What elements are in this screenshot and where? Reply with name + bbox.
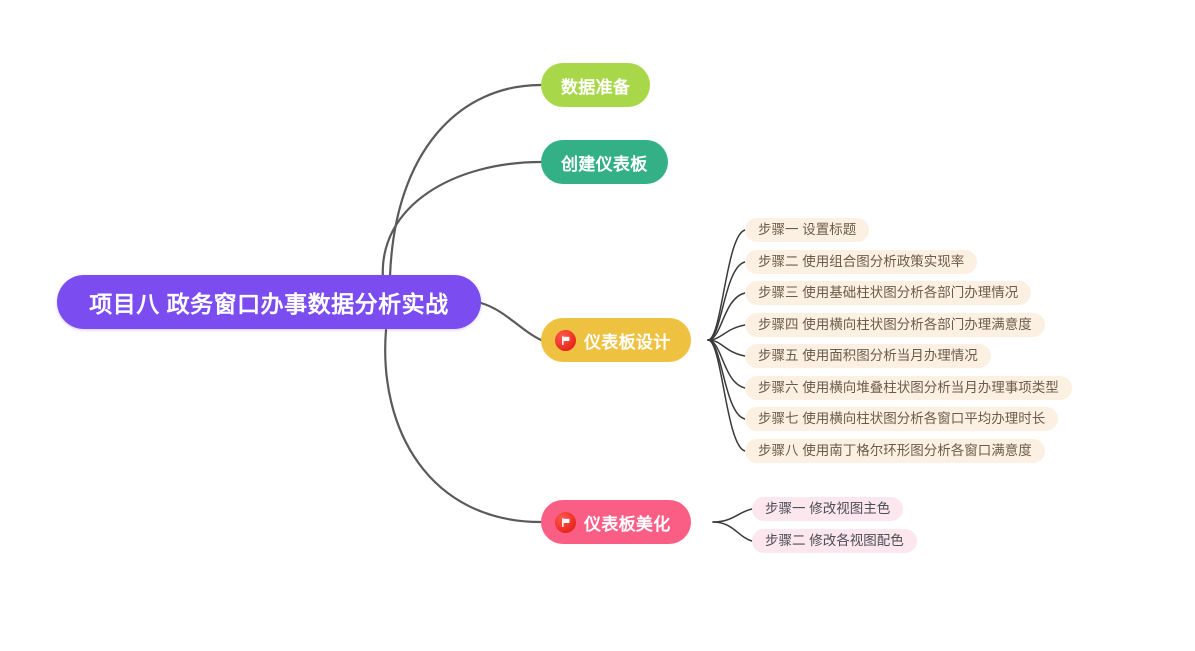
edge-root-to-create-dashboard bbox=[383, 162, 541, 279]
leaf-node-design-step-4[interactable]: 步骤四 使用横向柱状图分析各部门办理满意度 bbox=[745, 313, 1045, 337]
leaf-node-design-step-8-label: 步骤八 使用南丁格尔环形图分析各窗口满意度 bbox=[758, 444, 1032, 458]
branch-node-data-prep[interactable]: 数据准备 bbox=[541, 63, 650, 107]
leaf-node-design-step-2-label: 步骤二 使用组合图分析政策实现率 bbox=[758, 255, 964, 269]
edge-design-step-7 bbox=[708, 340, 745, 419]
branch-node-dashboard-beautify-label: 仪表板美化 bbox=[584, 510, 671, 535]
branch-node-create-dashboard-label: 创建仪表板 bbox=[561, 150, 648, 175]
edge-beautify-step-2 bbox=[713, 522, 752, 541]
edge-root-to-data-prep bbox=[390, 85, 541, 276]
leaf-node-design-step-1[interactable]: 步骤一 设置标题 bbox=[745, 218, 869, 242]
edge-design-step-6 bbox=[708, 340, 745, 388]
root-node-label: 项目八 政务窗口办事数据分析实战 bbox=[89, 285, 448, 319]
branch-node-dashboard-design-label: 仪表板设计 bbox=[584, 328, 671, 353]
mindmap-canvas: 项目八 政务窗口办事数据分析实战 数据准备 创建仪表板 仪表板设计 仪表板美化 … bbox=[0, 0, 1195, 651]
red-flag-icon bbox=[555, 330, 576, 351]
leaf-node-design-step-5-label: 步骤五 使用面积图分析当月办理情况 bbox=[758, 349, 978, 363]
leaf-node-design-step-3-label: 步骤三 使用基础柱状图分析各部门办理情况 bbox=[758, 286, 1018, 300]
edge-design-step-5 bbox=[708, 340, 745, 356]
leaf-node-design-step-5[interactable]: 步骤五 使用面积图分析当月办理情况 bbox=[745, 344, 991, 368]
edge-design-step-4 bbox=[708, 325, 745, 340]
edge-design-step-1 bbox=[708, 230, 745, 340]
leaf-node-design-step-6[interactable]: 步骤六 使用横向堆叠柱状图分析当月办理事项类型 bbox=[745, 376, 1072, 400]
edge-design-step-8 bbox=[708, 340, 745, 451]
leaf-node-beautify-step-1-label: 步骤一 修改视图主色 bbox=[765, 502, 890, 516]
branch-node-create-dashboard[interactable]: 创建仪表板 bbox=[541, 140, 668, 184]
leaf-node-beautify-step-1[interactable]: 步骤一 修改视图主色 bbox=[752, 497, 903, 521]
branch-node-dashboard-beautify[interactable]: 仪表板美化 bbox=[541, 500, 691, 544]
leaf-node-design-step-8[interactable]: 步骤八 使用南丁格尔环形图分析各窗口满意度 bbox=[745, 439, 1045, 463]
leaf-node-design-step-2[interactable]: 步骤二 使用组合图分析政策实现率 bbox=[745, 250, 977, 274]
edge-beautify-step-1 bbox=[713, 509, 752, 522]
branch-node-data-prep-label: 数据准备 bbox=[561, 73, 630, 98]
red-flag-icon bbox=[555, 512, 576, 533]
leaf-node-design-step-4-label: 步骤四 使用横向柱状图分析各部门办理满意度 bbox=[758, 318, 1032, 332]
branch-node-dashboard-design[interactable]: 仪表板设计 bbox=[541, 318, 691, 362]
edge-root-to-dashboard-design bbox=[481, 303, 541, 340]
edge-design-step-2 bbox=[708, 262, 745, 340]
root-node[interactable]: 项目八 政务窗口办事数据分析实战 bbox=[57, 275, 481, 329]
leaf-node-design-step-6-label: 步骤六 使用横向堆叠柱状图分析当月办理事项类型 bbox=[758, 381, 1059, 395]
edge-design-step-3 bbox=[708, 293, 745, 340]
leaf-node-beautify-step-2-label: 步骤二 修改各视图配色 bbox=[765, 534, 904, 548]
edge-root-to-dashboard-beautify bbox=[385, 330, 541, 522]
leaf-node-design-step-7[interactable]: 步骤七 使用横向柱状图分析各窗口平均办理时长 bbox=[745, 407, 1058, 431]
leaf-node-design-step-7-label: 步骤七 使用横向柱状图分析各窗口平均办理时长 bbox=[758, 412, 1045, 426]
leaf-node-beautify-step-2[interactable]: 步骤二 修改各视图配色 bbox=[752, 529, 917, 553]
leaf-node-design-step-1-label: 步骤一 设置标题 bbox=[758, 223, 856, 237]
leaf-node-design-step-3[interactable]: 步骤三 使用基础柱状图分析各部门办理情况 bbox=[745, 281, 1031, 305]
